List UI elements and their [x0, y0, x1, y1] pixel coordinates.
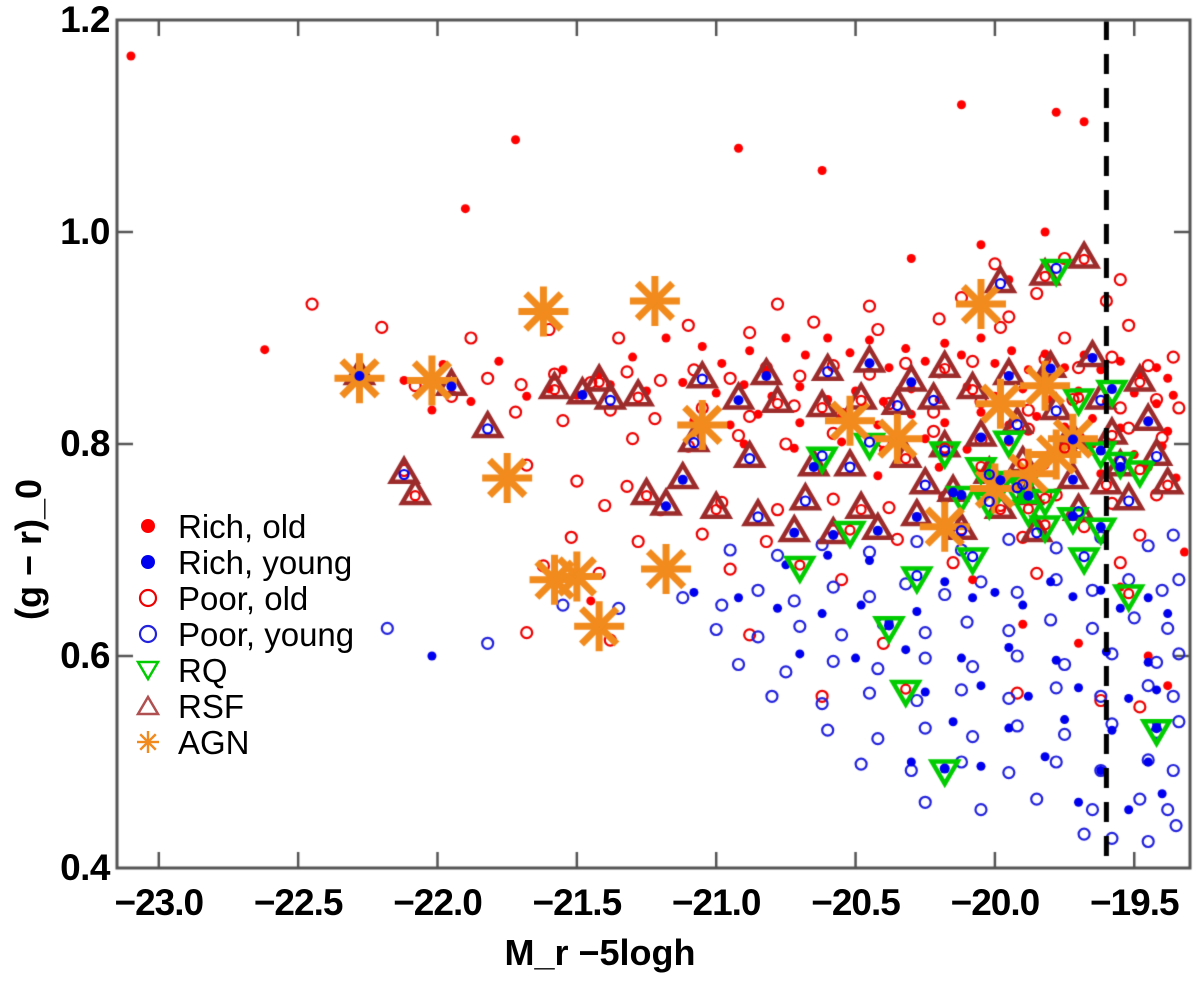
- chart-page: 1.2 1.0 0.8 0.6 0.4 −23.0 −22.5 −22.0 −2…: [0, 0, 1200, 993]
- triangle-down-icon: [130, 652, 170, 688]
- x-tick-label: −19.5: [1054, 884, 1200, 921]
- legend-item-rq: RQ: [130, 652, 430, 688]
- x-tick-label: −22.0: [358, 884, 518, 921]
- open-circle-icon: [130, 580, 170, 616]
- y-tick-label: 0.6: [0, 637, 110, 674]
- legend-item-agn: AGN: [130, 724, 430, 760]
- legend-label: Poor, old: [178, 582, 308, 615]
- legend-item-rich-old: Rich, old: [130, 508, 430, 544]
- filled-circle-icon: [130, 508, 170, 544]
- y-axis-title: (g − r)_0: [8, 479, 50, 620]
- open-circle-icon: [130, 616, 170, 652]
- x-tick-label: −21.0: [636, 884, 796, 921]
- x-axis-title: M_r −5logh: [0, 932, 1200, 974]
- triangle-up-icon: [130, 688, 170, 724]
- x-tick-label: −20.0: [915, 884, 1075, 921]
- filled-circle-icon: [130, 544, 170, 580]
- y-tick-label: 1.0: [0, 213, 110, 250]
- legend-item-rsf: RSF: [130, 688, 430, 724]
- legend: Rich, old Rich, young Poor, old Poor, yo…: [130, 508, 430, 760]
- legend-item-poor-young: Poor, young: [130, 616, 430, 652]
- legend-label: RSF: [178, 690, 244, 723]
- legend-item-rich-young: Rich, young: [130, 544, 430, 580]
- legend-label: AGN: [178, 726, 250, 759]
- y-tick-label: 1.2: [0, 1, 110, 38]
- x-tick-label: −20.5: [776, 884, 936, 921]
- x-tick-label: −23.0: [79, 884, 239, 921]
- x-tick-label: −22.5: [218, 884, 378, 921]
- legend-label: Poor, young: [178, 618, 354, 651]
- legend-label: Rich, young: [178, 546, 352, 579]
- scatter-plot-canvas: [0, 0, 1200, 993]
- legend-label: Rich, old: [178, 510, 306, 543]
- asterisk-icon: [130, 724, 170, 760]
- legend-label: RQ: [178, 654, 228, 687]
- y-tick-label: 0.4: [0, 849, 110, 886]
- y-tick-label: 0.8: [0, 425, 110, 462]
- legend-item-poor-old: Poor, old: [130, 580, 430, 616]
- x-tick-label: −21.5: [497, 884, 657, 921]
